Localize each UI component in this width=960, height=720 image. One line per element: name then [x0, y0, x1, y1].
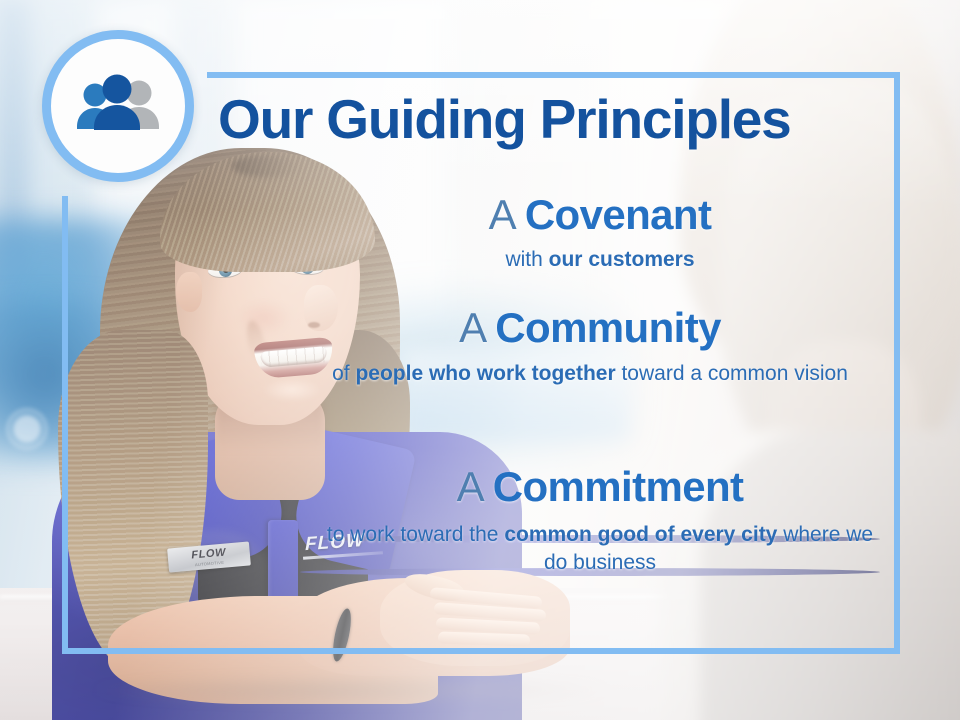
- principle-community-body: of people who work together toward a com…: [300, 360, 880, 388]
- plain-text: with: [505, 248, 548, 271]
- decor-frame-right: [894, 72, 900, 654]
- emphasis-text: people who work together: [355, 362, 615, 385]
- principle-keyword: Covenant: [525, 191, 712, 238]
- employee-hair-part: [232, 155, 302, 177]
- guiding-principles-graphic: FLOW AUTOMOTIVE FLOW: [0, 0, 960, 720]
- principle-community: A Community of people who work together …: [300, 306, 880, 388]
- emphasis-text: common good of every city: [504, 523, 777, 546]
- plain-text: of: [332, 362, 355, 385]
- principle-article: A: [459, 304, 484, 351]
- principle-covenant-heading: A Covenant: [320, 193, 880, 237]
- principle-keyword: Community: [495, 304, 721, 351]
- principle-commitment-heading: A Commitment: [320, 465, 880, 509]
- principle-covenant-body: with our customers: [320, 246, 880, 274]
- arm-desk-shadow: [90, 676, 610, 704]
- decor-frame-left: [62, 196, 68, 654]
- emphasis-text: our customers: [549, 248, 695, 271]
- decor-frame-bottom: [62, 648, 900, 654]
- principle-keyword: Commitment: [493, 463, 744, 510]
- principle-article: A: [489, 191, 514, 238]
- principle-covenant: A Covenant with our customers: [320, 193, 880, 274]
- employee-ear: [176, 272, 202, 312]
- page-title: Our Guiding Principles: [218, 92, 878, 147]
- group-of-people-icon: [42, 30, 194, 182]
- principle-commitment: A Commitment to work toward the common g…: [320, 465, 880, 577]
- plain-text: to work toward the: [327, 523, 504, 546]
- employee-cheek-blush: [237, 300, 291, 336]
- principle-article: A: [457, 463, 482, 510]
- name-badge-subtitle: AUTOMOTIVE: [195, 560, 225, 567]
- decor-frame-top: [207, 72, 900, 78]
- principle-community-heading: A Community: [300, 306, 880, 350]
- principle-commitment-body: to work toward the common good of every …: [320, 521, 880, 577]
- plain-text: toward a common vision: [616, 362, 848, 385]
